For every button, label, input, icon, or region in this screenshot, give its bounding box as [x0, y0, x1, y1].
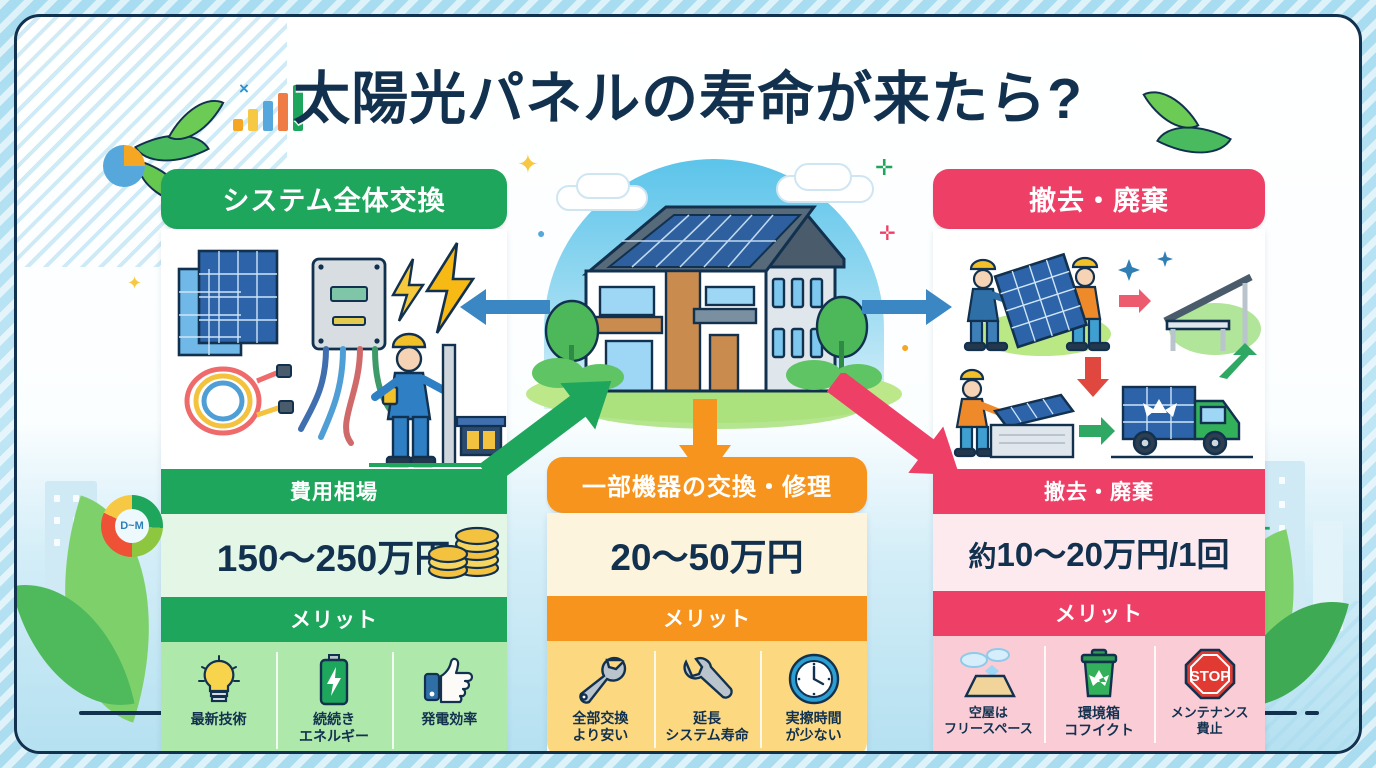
arrow-down-orange [677, 399, 733, 481]
merit-item[interactable]: 発電効率 [392, 642, 507, 754]
illustration-left [161, 229, 507, 469]
merits-right: 空屋は フリースペース [933, 636, 1265, 753]
panel-partial-repair[interactable]: 一部機器の交換・修理 20〜50万円 メリット [547, 457, 867, 754]
illustration-right [933, 229, 1265, 469]
panel-body-right: 撤去・廃棄 約10〜20万円/1回 メリット [933, 229, 1265, 753]
merits-center: 全部交換 より安い 延長 システム寿命 [547, 641, 867, 754]
merits-left: 最新技術 続続き エネルギー [161, 642, 507, 754]
wrench-icon [656, 653, 759, 705]
arrow-left-blue [460, 285, 550, 329]
merit-label: 続続き エネルギー [278, 711, 389, 745]
merit-item[interactable]: 最新技術 [161, 642, 276, 754]
merit-label-right: メリット [933, 591, 1265, 636]
panel-header-left: システム全体交換 [161, 169, 507, 229]
free-space-icon [935, 648, 1042, 700]
cost-row-right: 約10〜20万円/1回 [933, 514, 1265, 591]
merit-item[interactable]: STOP メンテナンス 費止 [1154, 636, 1265, 753]
cost-label-left: 費用相場 [161, 469, 507, 514]
merit-item[interactable]: 続続き エネルギー [276, 642, 391, 754]
cost-value-center: 20〜50万円 [547, 513, 867, 596]
merit-label: 延長 システム寿命 [656, 710, 759, 744]
merit-label: 発電効率 [394, 711, 505, 728]
arrow-right-blue [862, 285, 952, 329]
cost-row-center: 20〜50万円 [547, 513, 867, 596]
page-title: 太陽光パネルの寿命が来たら? [17, 53, 1359, 135]
cost-amount: 10〜20万円/1回 [997, 536, 1230, 573]
sparkle-icon: ✦ [127, 273, 142, 294]
merit-label-center: メリット [547, 596, 867, 641]
merit-item[interactable]: 延長 システム寿命 [654, 641, 761, 754]
merit-item[interactable]: 全部交換 より安い [547, 641, 654, 754]
merit-label: 実擦時間 が少ない [762, 710, 865, 744]
pie-chart-decoration [103, 145, 145, 187]
merit-item[interactable]: 空屋は フリースペース [933, 636, 1044, 753]
arrow-diagonal-green [469, 373, 629, 483]
panel-body-left: 費用相場 150〜250万円 [161, 229, 507, 754]
thumbs-up-icon [394, 654, 505, 706]
merit-item[interactable]: 環境箱 コフイクト [1044, 636, 1155, 753]
merit-label-left: メリット [161, 597, 507, 642]
stop-sign-icon: STOP [1156, 648, 1263, 700]
merit-label: 全部交換 より安い [549, 710, 652, 744]
donut-label: D~M [120, 520, 144, 532]
bottom-dash-right [1305, 711, 1319, 715]
cost-prefix: 約 [969, 541, 997, 572]
merit-label: 最新技術 [163, 711, 274, 728]
merit-label: メンテナンス 費止 [1156, 705, 1263, 736]
battery-icon [278, 654, 389, 706]
lightbulb-icon [163, 654, 274, 706]
infographic-card: 太陽光パネルの寿命が来たら? × D~M ✦ ✛ ✛ ✦ ● ✛ ✦ [14, 14, 1362, 754]
merit-item[interactable]: 実擦時間 が少ない [760, 641, 867, 754]
clock-icon [762, 653, 865, 705]
merit-label: 環境箱 コフイクト [1046, 705, 1153, 739]
page-background: 太陽光パネルの寿命が来たら? × D~M ✦ ✛ ✛ ✦ ● ✛ ✦ [0, 0, 1376, 768]
svg-text:STOP: STOP [1189, 668, 1230, 685]
donut-chart-decoration: D~M [101, 495, 163, 557]
recycle-bin-icon [1046, 648, 1153, 700]
panel-removal-disposal[interactable]: 撤去・廃棄 [933, 169, 1265, 753]
coins-icon [427, 520, 501, 582]
arrow-diagonal-pink [817, 373, 977, 483]
panel-body-center: 20〜50万円 メリット 全部交換 より安い [547, 513, 867, 754]
merit-label: 空屋は フリースペース [935, 705, 1042, 736]
cost-row-left: 150〜250万円 [161, 514, 507, 597]
cost-label-right: 撤去・廃棄 [933, 469, 1265, 514]
cost-value-right: 約10〜20万円/1回 [933, 514, 1265, 591]
panel-header-right: 撤去・廃棄 [933, 169, 1265, 229]
wrench-icon [549, 653, 652, 705]
panel-system-replacement[interactable]: システム全体交換 [161, 169, 507, 754]
